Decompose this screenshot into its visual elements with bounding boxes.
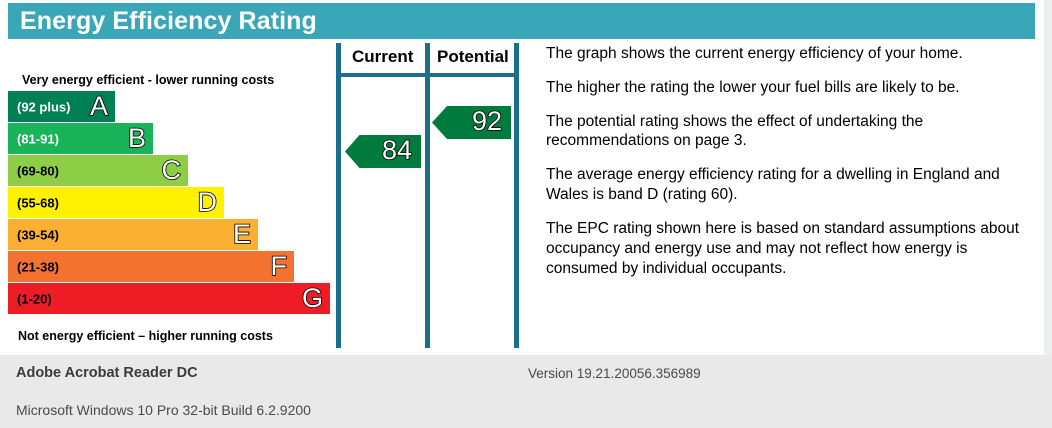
band-range-label: (81-91) [17,132,59,145]
band-letter-label: D [198,188,218,215]
epc-document: Energy Efficiency Rating Very energy eff… [0,0,1044,355]
note-paragraph-3: The potential rating shows the effect of… [546,112,1026,152]
rating-band-c: (69-80)C [8,155,188,186]
explanatory-notes: The graph shows the current energy effic… [546,44,1026,278]
band-letter-label: C [162,156,182,183]
rating-arrow-potential: 92 [432,106,511,139]
acrobat-footer: Adobe Acrobat Reader DC Version 19.21.20… [0,355,1052,428]
rating-band-f: (21-38)F [8,251,294,282]
rating-band-b: (81-91)B [8,123,153,154]
column-header-potential: Potential [437,47,509,67]
band-letter-label: F [271,252,288,279]
column-header-current: Current [352,47,413,67]
rating-band-d: (55-68)D [8,187,224,218]
note-paragraph-1: The graph shows the current energy effic… [546,44,1026,64]
band-range-label: (1-20) [17,292,52,305]
note-paragraph-2: The higher the rating the lower your fue… [546,78,1026,98]
rating-band-g: (1-20)G [8,283,330,314]
note-paragraph-5: The EPC rating shown here is based on st… [546,219,1026,278]
column-divider-0 [336,43,341,348]
page-background: Energy Efficiency Rating Very energy eff… [0,0,1052,428]
band-range-label: (69-80) [17,164,59,177]
title-band: Energy Efficiency Rating [8,3,1035,39]
application-version: Version 19.21.20056.356989 [528,366,701,381]
rating-value-current: 84 [382,137,421,164]
rating-band-a: (92 plus)A [8,91,115,122]
application-name: Adobe Acrobat Reader DC [16,365,198,381]
note-paragraph-4: The average energy efficiency rating for… [546,165,1026,205]
column-divider-1 [425,43,430,348]
page-title: Energy Efficiency Rating [20,7,317,36]
rating-value-potential: 92 [472,108,511,135]
band-letter-label: B [128,124,146,151]
column-divider-2 [514,43,519,348]
band-letter-label: A [90,92,108,119]
band-letter-label: G [302,284,323,311]
chart-top-caption: Very energy efficient - lower running co… [22,73,274,87]
energy-efficiency-chart: Very energy efficient - lower running co… [0,39,532,355]
band-letter-label: E [233,220,251,247]
column-header-underline [336,73,519,77]
band-range-label: (55-68) [17,196,59,209]
rating-band-e: (39-54)E [8,219,258,250]
band-range-label: (39-54) [17,228,59,241]
operating-system-info: Microsoft Windows 10 Pro 32-bit Build 6.… [16,402,311,418]
chart-bottom-caption: Not energy efficient – higher running co… [18,329,273,343]
rating-arrow-current: 84 [345,135,421,168]
band-range-label: (21-38) [17,260,59,273]
band-range-label: (92 plus) [17,100,70,113]
